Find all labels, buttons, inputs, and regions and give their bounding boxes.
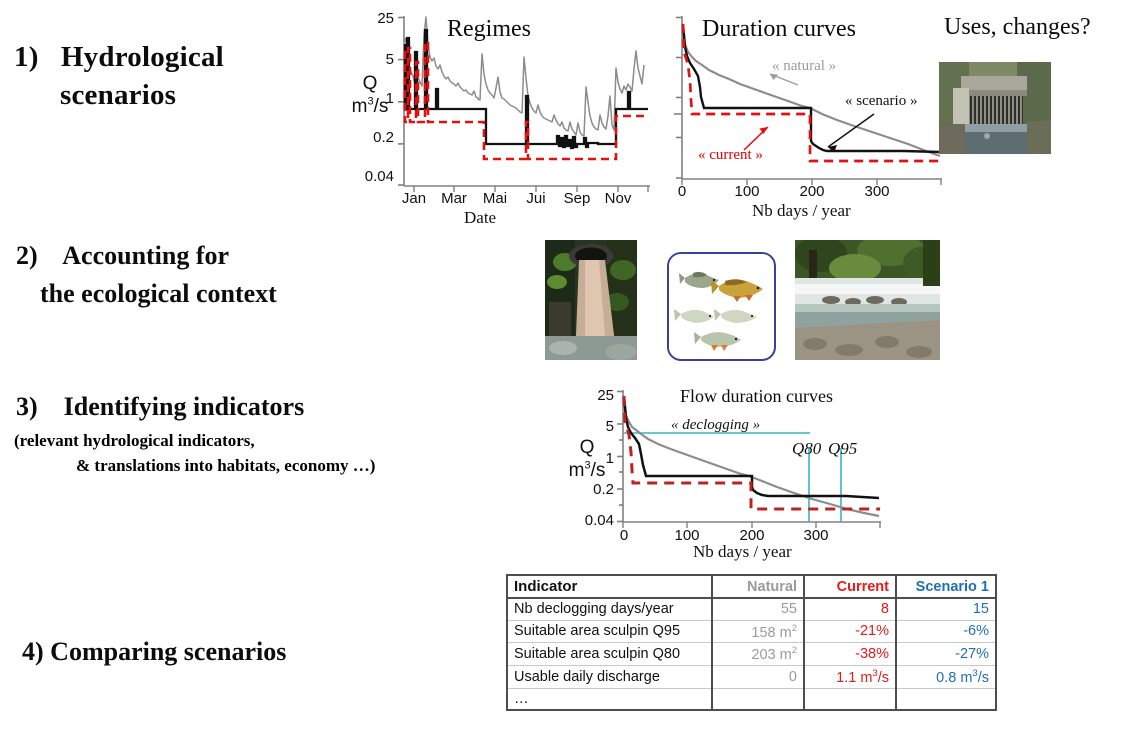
- cell-indicator: …: [507, 688, 712, 710]
- cell-indicator: Suitable area sculpin Q95: [507, 620, 712, 643]
- scenario-comparison-table: Indicator Natural Current Scenario 1 Nb …: [506, 574, 997, 711]
- cell-current: [804, 688, 896, 710]
- cell-natural: 158 m2: [712, 620, 804, 643]
- pipe-outflow-photo: [545, 240, 637, 360]
- annotation-current: « current »: [698, 147, 763, 164]
- cell-indicator: Usable daily discharge: [507, 666, 712, 689]
- annotation-natural: « natural »: [772, 58, 836, 75]
- cell-scenario1: 15: [896, 598, 996, 620]
- x-axis-title-date: Date: [464, 208, 496, 228]
- section-4-number: 4): [22, 637, 44, 666]
- chart-duration-curves: Duration curves: [660, 4, 950, 216]
- fdc-x-tick-300: 300: [800, 527, 832, 544]
- fdc-x-axis-title: Nb days / year: [693, 542, 792, 562]
- cell-natural: 55: [712, 598, 804, 620]
- table-row: …: [507, 688, 996, 710]
- cell-scenario1: -6%: [896, 620, 996, 643]
- section-4-heading: 4) Comparing scenarios: [22, 637, 286, 667]
- cell-scenario1: [896, 688, 996, 710]
- col-header-indicator: Indicator: [507, 575, 712, 598]
- section-1-heading: 1) Hydrological scenarios: [14, 38, 224, 114]
- chart-flow-duration-curves: Flow duration curves 25 5 1 0.2 0.04 Q m…: [566, 382, 896, 554]
- section-1-line2: scenarios: [60, 76, 224, 114]
- river-riffle-photo: [795, 240, 940, 360]
- water-intake-weir-photo: [939, 62, 1051, 154]
- cell-natural: [712, 688, 804, 710]
- x-tick-jui: Jui: [521, 190, 551, 207]
- cell-natural: 0: [712, 666, 804, 689]
- section-4-line1: Comparing scenarios: [50, 637, 286, 666]
- section-2-line2: the ecological context: [40, 275, 277, 313]
- x-tick-mai: Mai: [479, 190, 511, 207]
- col-header-scenario1: Scenario 1: [896, 575, 996, 598]
- table-row: Suitable area sculpin Q95 158 m2 -21% -6…: [507, 620, 996, 643]
- section-1-number: 1): [14, 41, 39, 73]
- annotation-scenario: « scenario »: [845, 93, 917, 110]
- fdc-x-tick-0: 0: [610, 527, 638, 544]
- section-2-number: 2): [16, 241, 38, 270]
- cell-current: -38%: [804, 643, 896, 666]
- col-header-natural: Natural: [712, 575, 804, 598]
- cell-current: 1.1 m3/s: [804, 666, 896, 689]
- x-tick-300: 300: [861, 183, 893, 200]
- x-tick-mar: Mar: [438, 190, 470, 207]
- cell-scenario1: -27%: [896, 643, 996, 666]
- section-2-line1: Accounting for: [62, 241, 229, 270]
- table-row: Usable daily discharge 0 1.1 m3/s 0.8 m3…: [507, 666, 996, 689]
- section-1-line1: Hydrological: [61, 41, 224, 73]
- x-axis-title-nbdays: Nb days / year: [752, 201, 851, 221]
- x-tick-200: 200: [796, 183, 828, 200]
- uses-changes-title: Uses, changes?: [944, 14, 1091, 41]
- cell-current: 8: [804, 598, 896, 620]
- table-row: Nb declogging days/year 55 8 15: [507, 598, 996, 620]
- cell-natural: 203 m2: [712, 643, 804, 666]
- section-3-number: 3): [16, 392, 38, 421]
- table-header-row: Indicator Natural Current Scenario 1: [507, 575, 996, 598]
- annotation-q95: Q95: [828, 439, 857, 459]
- cell-scenario1: 0.8 m3/s: [896, 666, 996, 689]
- x-tick-jan: Jan: [398, 190, 430, 207]
- section-3-line1: Identifying indicators: [64, 392, 305, 421]
- col-header-current: Current: [804, 575, 896, 598]
- cell-indicator: Nb declogging days/year: [507, 598, 712, 620]
- annotation-q80: Q80: [792, 439, 821, 459]
- section-3-sub2: & translations into habitats, economy …): [76, 453, 375, 478]
- chart-regimes: Regimes 25 5 1 0.2 0.04 Q m3/s: [352, 4, 662, 216]
- x-tick-100: 100: [731, 183, 763, 200]
- cell-current: -21%: [804, 620, 896, 643]
- x-tick-nov: Nov: [602, 190, 634, 207]
- annotation-declogging: « declogging »: [671, 417, 760, 434]
- section-2-heading: 2) Accounting for the ecological context: [16, 237, 277, 313]
- table-row: Suitable area sculpin Q80 203 m2 -38% -2…: [507, 643, 996, 666]
- section-3-sub1: (relevant hydrological indicators,: [14, 431, 255, 450]
- section-3-heading: 3) Identifying indicators: [16, 392, 304, 422]
- x-tick-0: 0: [668, 183, 696, 200]
- x-tick-sep: Sep: [561, 190, 593, 207]
- section-3-subtitle: (relevant hydrological indicators, & tra…: [14, 428, 375, 478]
- chart-regimes-plot: [352, 4, 662, 216]
- cell-indicator: Suitable area sculpin Q80: [507, 643, 712, 666]
- fish-species-photo: [667, 252, 776, 361]
